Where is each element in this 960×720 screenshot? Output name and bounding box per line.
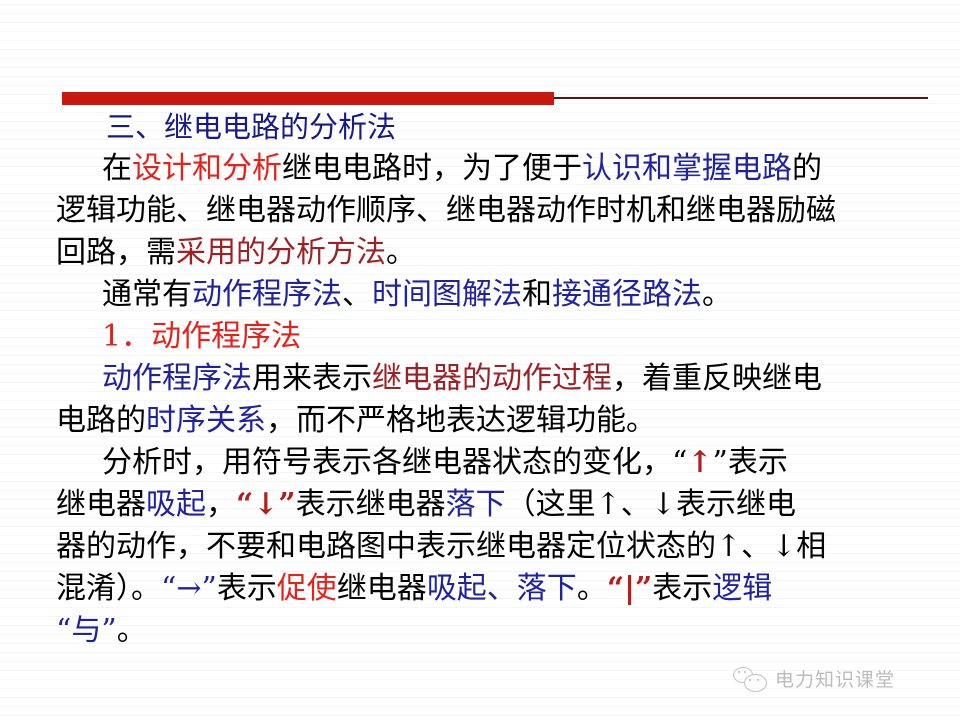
text-run: 。	[386, 235, 416, 270]
text-line: 混淆）。“→”表示促使继电器吸起、落下。“|”表示逻辑	[56, 568, 936, 610]
wechat-icon	[733, 666, 767, 692]
text-line: 在设计和分析继电电路时，为了便于认识和掌握电路的	[56, 148, 936, 190]
text-line: 分析时，用符号表示各继电器状态的变化，“↑”表示	[56, 442, 936, 484]
text-line: 1．动作程序法	[56, 316, 936, 358]
text-run: 表示继电器	[296, 487, 446, 522]
text-run: 、	[342, 277, 372, 312]
text-run: 认识和掌握电路	[582, 151, 792, 186]
text-run: 继电电路时，为了便于	[282, 151, 582, 186]
text-run: ”	[278, 487, 295, 522]
text-line: 逻辑功能、继电器动作顺序、继电器动作时机和继电器励磁	[56, 190, 936, 232]
text-line: 器的动作，不要和电路图中表示继电器定位状态的↑、↓相	[56, 526, 936, 568]
text-run: ，而不严格地表达逻辑功能。	[266, 403, 656, 438]
text-run: ”表示	[712, 445, 787, 480]
text-line: 动作程序法用来表示继电器的动作过程，着重反映继电	[56, 358, 936, 400]
text-run: 落下	[446, 487, 506, 522]
text-run: ，着重反映继电	[612, 361, 822, 396]
text-run: 采用的分析方法	[176, 235, 386, 270]
text-run: ↑	[687, 445, 712, 480]
title-rule-thin-segment	[554, 97, 928, 99]
text-line: 通常有动作程序法、时间图解法和接通径路法。	[56, 274, 936, 316]
text-line: 继电器吸起，“↓”表示继电器落下（这里↑、↓表示继电	[56, 484, 936, 526]
wechat-icon-dot	[738, 671, 740, 673]
text-run: （这里↑、↓表示继电	[506, 487, 796, 522]
channel-watermark: 电力知识课堂	[733, 665, 895, 692]
slide-body-text: 三、继电电路的分析法 在设计和分析继电电路时，为了便于认识和掌握电路的逻辑功能、…	[56, 106, 936, 652]
text-run: 继电器的动作过程	[372, 361, 612, 396]
text-run: “→”	[161, 571, 217, 606]
text-run: ↓	[253, 487, 278, 522]
text-run: 1．动作程序法	[102, 319, 301, 354]
text-run: 用来表示	[252, 361, 372, 396]
text-run: 器的动作，不要和电路图中表示继电器定位状态的↑、↓相	[56, 529, 826, 564]
text-run: 的	[792, 151, 822, 186]
text-run: 逻辑	[712, 571, 772, 606]
title-rule	[62, 92, 928, 106]
text-run: 继电器	[56, 487, 146, 522]
text-run: 时序关系	[146, 403, 266, 438]
text-run: 。	[117, 613, 147, 648]
text-run: 电路的	[56, 403, 146, 438]
text-line: 回路，需采用的分析方法。	[56, 232, 936, 274]
text-run: 回路，需	[56, 235, 176, 270]
text-run: 表示	[652, 571, 712, 606]
text-run: 通常有	[102, 277, 192, 312]
section-heading: 三、继电电路的分析法	[56, 106, 936, 148]
text-run: “与”	[56, 613, 117, 648]
text-run: 吸起	[146, 487, 206, 522]
text-run: “|”	[607, 571, 652, 606]
wechat-icon-dot	[744, 671, 746, 673]
text-run: 和	[522, 277, 552, 312]
text-run: 。	[702, 277, 732, 312]
channel-name: 电力知识课堂	[775, 665, 895, 692]
text-run: 促使	[277, 571, 337, 606]
text-run: 动作程序法	[102, 361, 252, 396]
wechat-icon-bubble-small	[744, 674, 767, 692]
text-run: 在	[102, 151, 132, 186]
text-run: 时间图解法	[372, 277, 522, 312]
section-heading-text: 三、继电电路的分析法	[106, 110, 396, 144]
text-run: 混淆）。	[56, 571, 161, 606]
text-run: 表示	[217, 571, 277, 606]
text-run: ，	[206, 487, 236, 522]
paragraph-host: 在设计和分析继电电路时，为了便于认识和掌握电路的逻辑功能、继电器动作顺序、继电器…	[56, 148, 936, 652]
text-run: 设计和分析	[132, 151, 282, 186]
text-line: 电路的时序关系，而不严格地表达逻辑功能。	[56, 400, 936, 442]
text-run: 。	[577, 571, 607, 606]
title-rule-thick-segment	[62, 92, 554, 105]
text-run: 分析时，用符号表示各继电器状态的变化，“	[102, 445, 687, 480]
text-run: “	[236, 487, 253, 522]
text-run: 接通径路法	[552, 277, 702, 312]
text-run: 逻辑功能、继电器动作顺序、继电器动作时机和继电器励磁	[56, 193, 836, 228]
text-run: 继电器	[337, 571, 427, 606]
text-run: 动作程序法	[192, 277, 342, 312]
text-line: “与”。	[56, 610, 936, 652]
text-run: 吸起、落下	[427, 571, 577, 606]
slide-canvas: 三、继电电路的分析法 在设计和分析继电电路时，为了便于认识和掌握电路的逻辑功能、…	[0, 0, 960, 720]
